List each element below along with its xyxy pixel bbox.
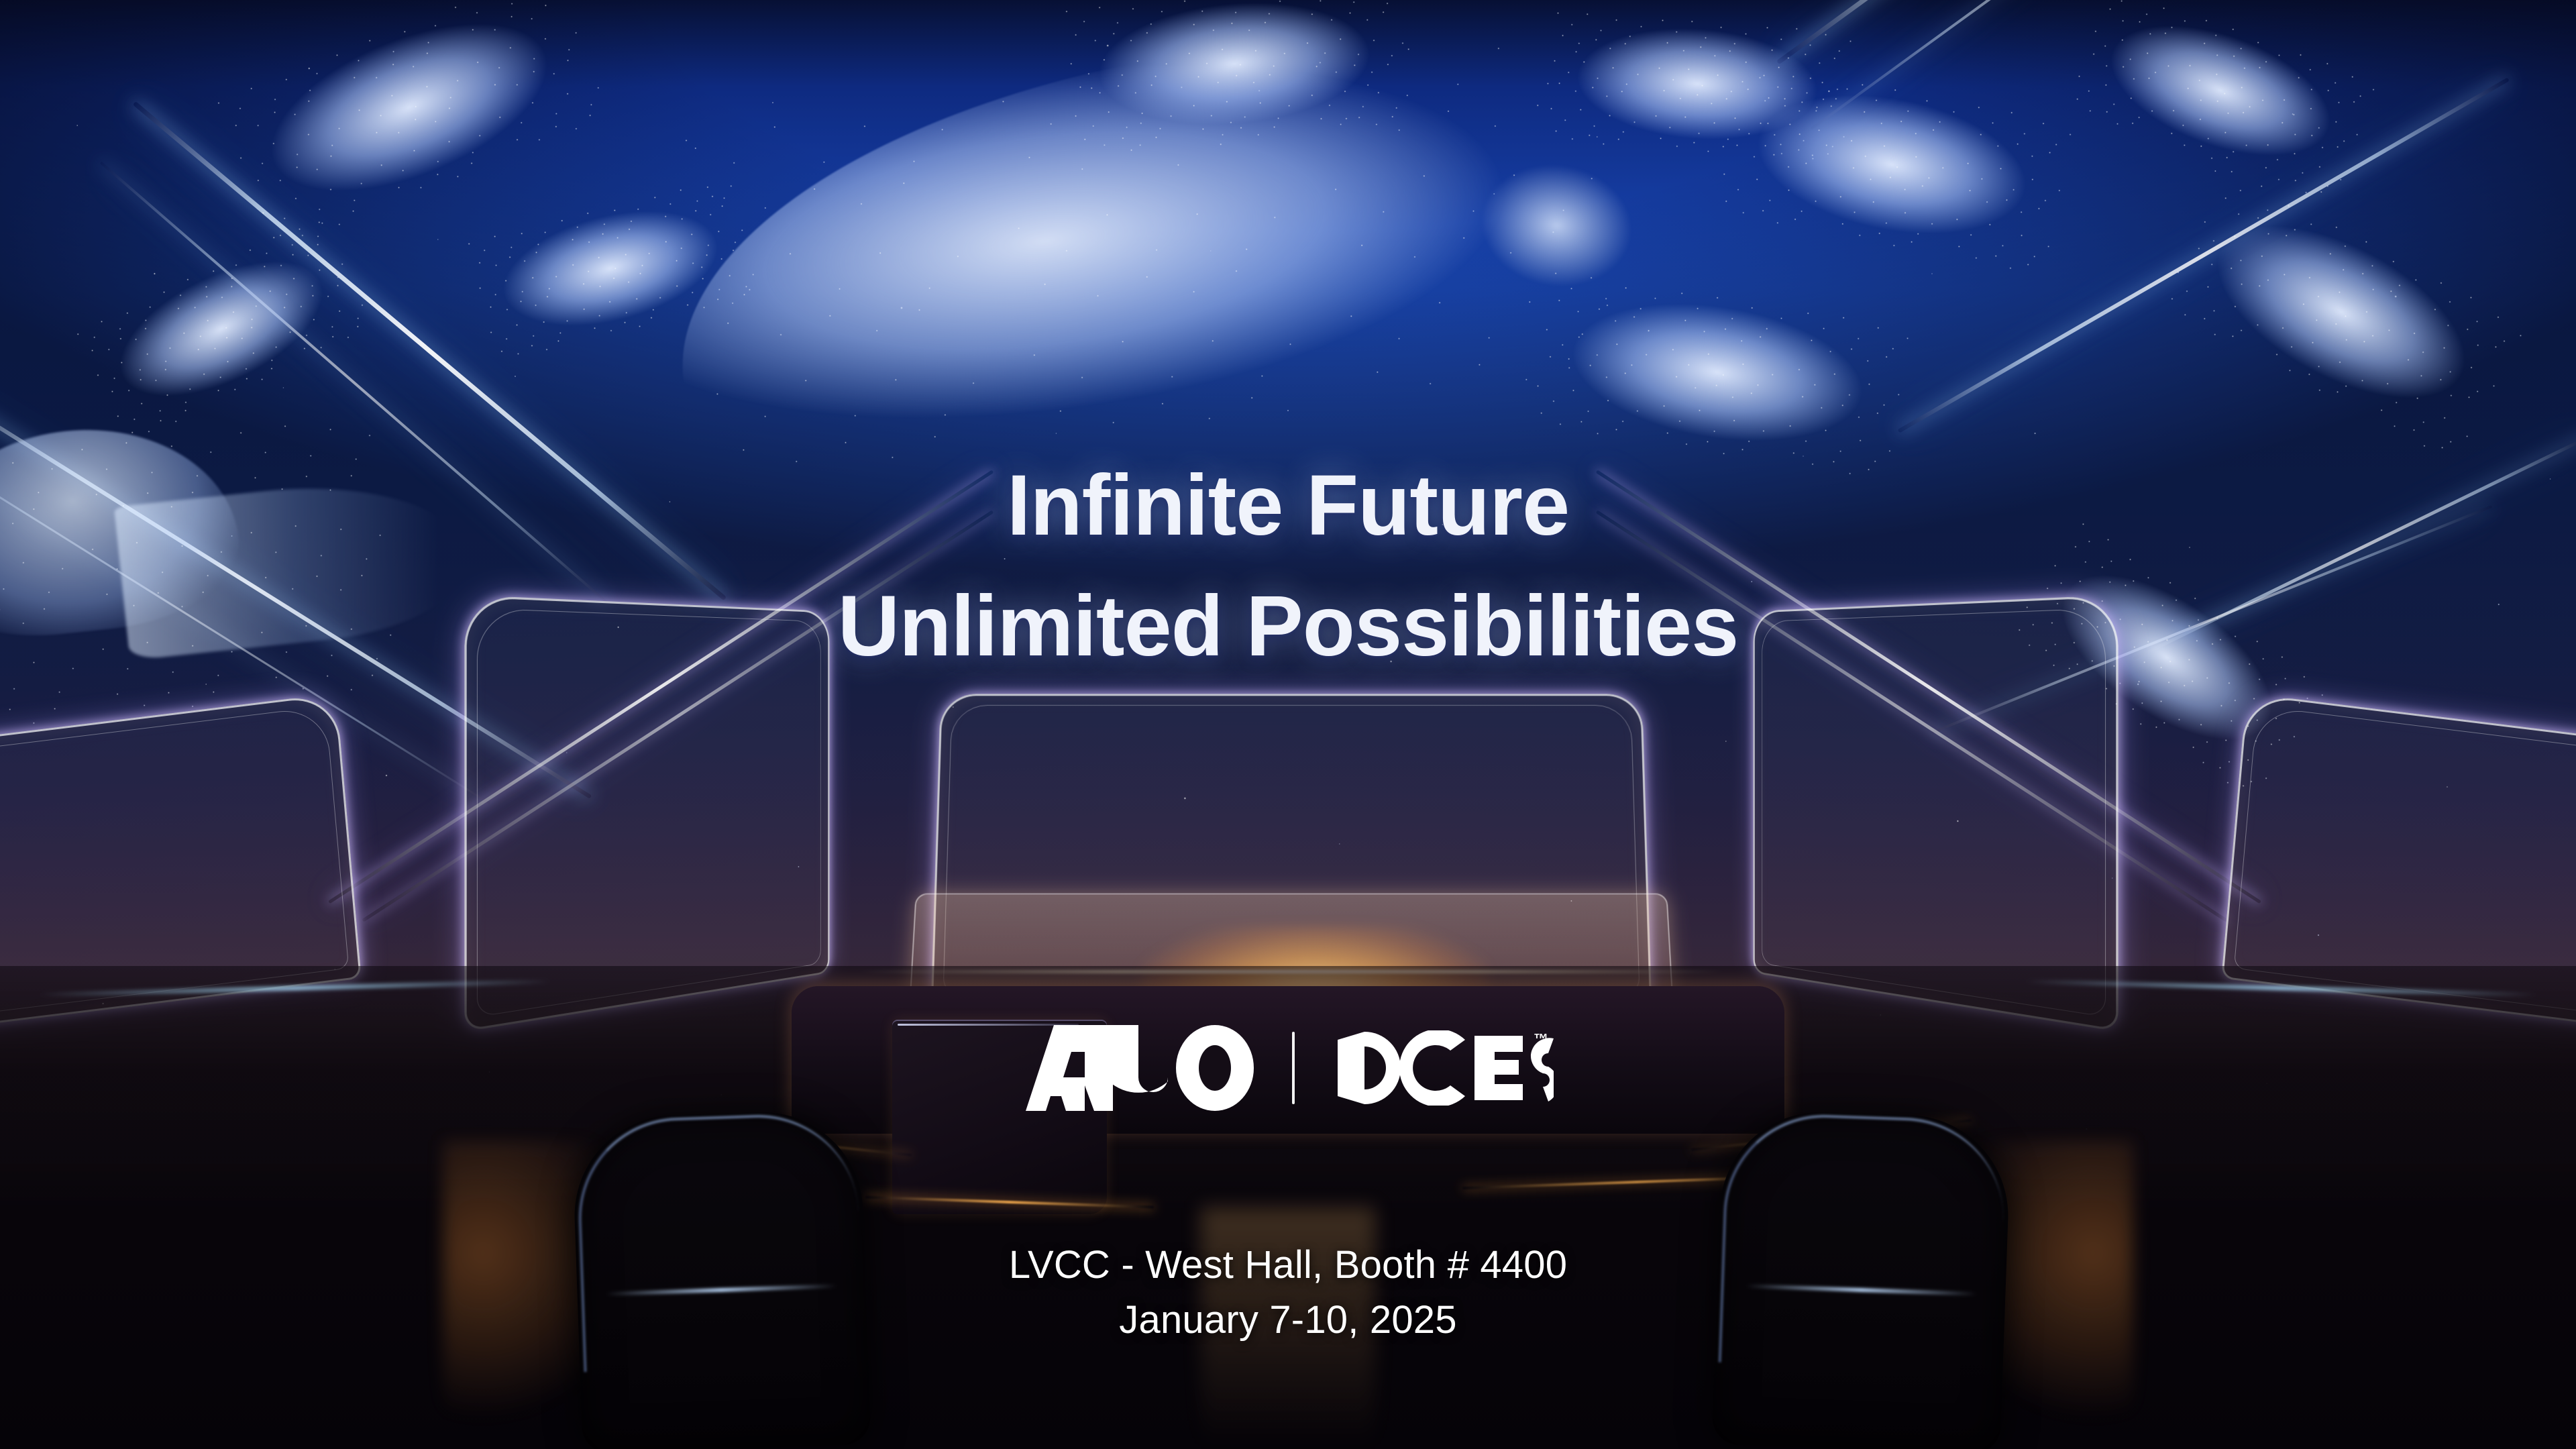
cabin-seat-right (1711, 1109, 2011, 1449)
key-visual-stage: Infinite Future Unlimited Possibilities (0, 0, 2576, 1449)
floor-glow (1201, 1207, 1375, 1449)
logo-divider (1292, 1032, 1295, 1104)
auo-logo-icon (1023, 1025, 1254, 1111)
cabin-seat-left (571, 1109, 871, 1449)
ces-logo-lockup: ™ (1332, 1030, 1554, 1106)
logo-lockup: ™ (0, 1025, 2576, 1111)
trademark-symbol: ™ (1534, 1030, 1548, 1047)
ces-logo-icon: ™ (1332, 1030, 1554, 1106)
